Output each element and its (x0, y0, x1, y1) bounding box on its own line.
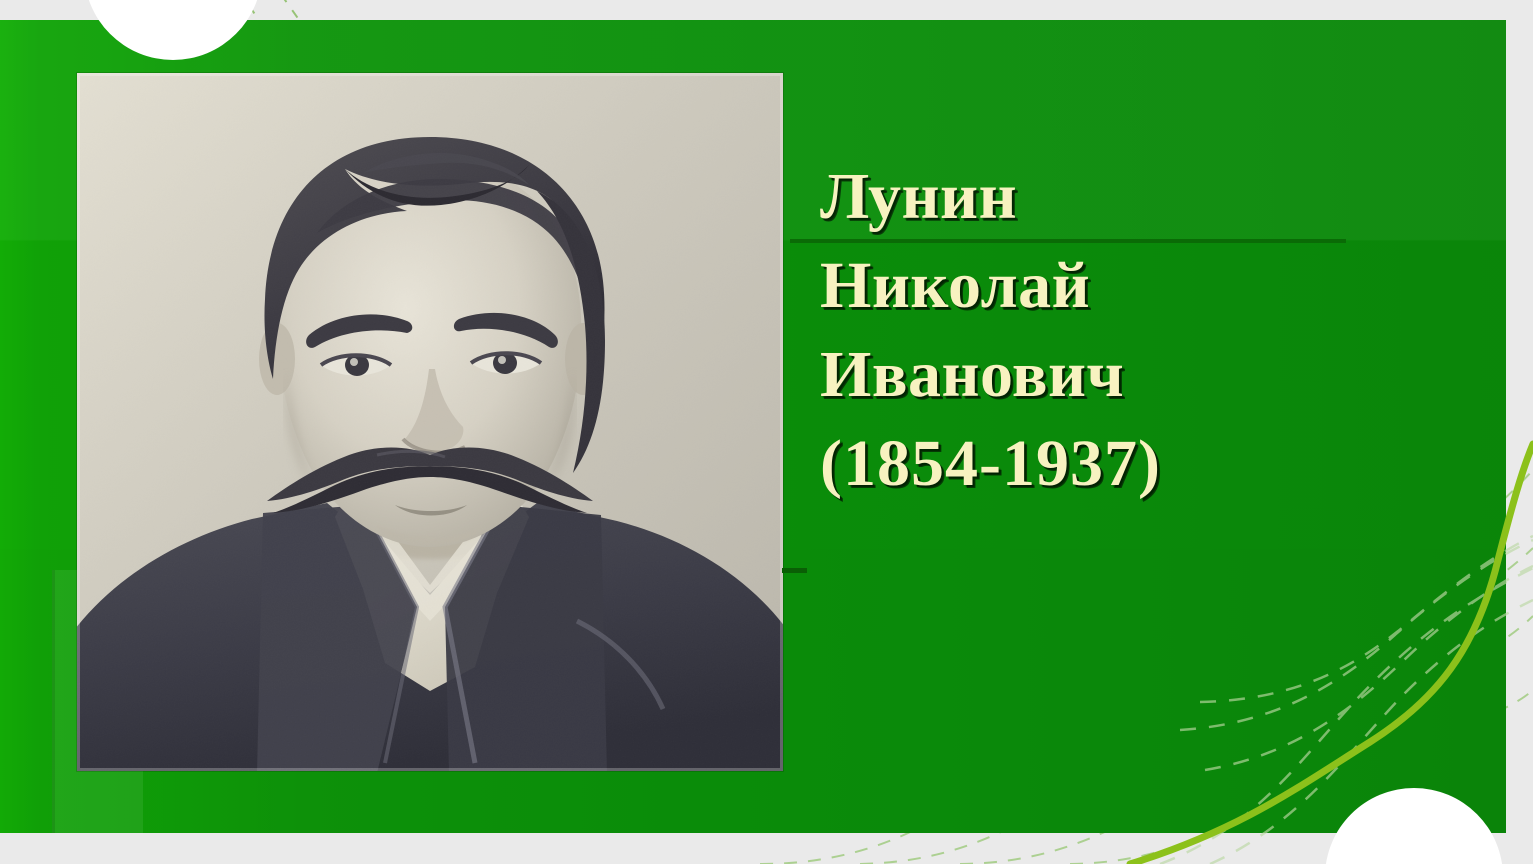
slide-title: Лунин Николай Иванович (1854-1937) (820, 152, 1420, 508)
slide-canvas: Лунин Николай Иванович (1854-1937) (0, 0, 1533, 864)
portrait-illustration (77, 73, 783, 771)
title-line-dates: (1854-1937) (820, 419, 1420, 508)
portrait-photo (77, 73, 783, 771)
title-line-firstname: Николай (820, 241, 1420, 330)
title-rule-bottom (782, 568, 807, 573)
title-line-surname: Лунин (820, 152, 1420, 241)
title-line-patronymic: Иванович (820, 330, 1420, 419)
